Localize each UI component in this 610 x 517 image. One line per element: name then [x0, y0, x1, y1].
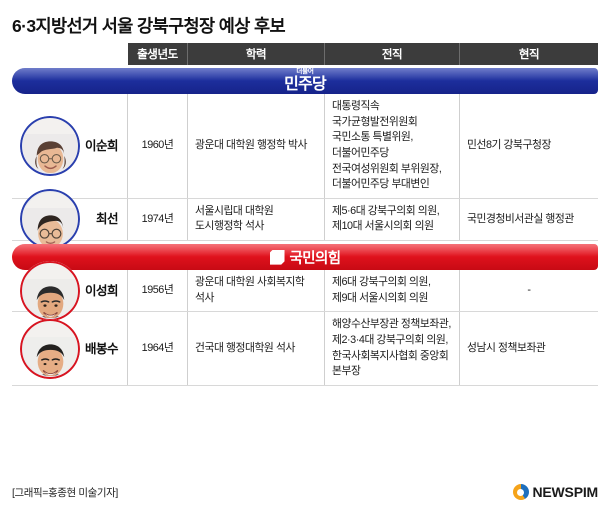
democratic-logo-subtext: 더불어 [296, 69, 313, 76]
people-power-logo-text: 국민의힘 [290, 247, 341, 268]
cell-birth-year: 1964년 [128, 312, 188, 385]
avatar-photo [23, 192, 78, 247]
cell-education: 광운대 대학원 사회복지학 석사 [188, 270, 325, 311]
newspim-mark-icon [513, 484, 529, 500]
newspim-logo: NEWSPIM [513, 484, 599, 500]
avatar [20, 116, 80, 176]
table-row: 이순희 1960년 광운대 대학원 행정학 박사 대통령직속 국가균형발전위원회… [12, 94, 598, 199]
avatar [20, 189, 80, 249]
cell-birth-year: 1974년 [128, 199, 188, 240]
column-header-current: 현직 [460, 43, 598, 65]
candidate-identity-cell: 이순희 [12, 94, 128, 198]
cell-current: 국민경청비서관실 행정관 [460, 199, 598, 240]
avatar [20, 319, 80, 379]
cell-previous: 제6대 강북구의회 의원, 제9대 서울시의회 의원 [325, 270, 460, 311]
party-banner-democratic: 더불어 민주당 [12, 68, 598, 94]
table-row: 최선 1974년 서울시립대 대학원 도시행정학 석사 제5·6대 강북구의회 … [12, 199, 598, 241]
graphic-credit: [그래픽=홍종현 미술기자] [12, 485, 118, 500]
portrait-icon [23, 134, 78, 173]
candidate-table: 출생년도 학력 전직 현직 더불어 민주당 [12, 43, 598, 386]
cell-education: 광운대 대학원 행정학 박사 [188, 94, 325, 198]
cell-previous: 해양수산부장관 정책보좌관, 제2·3·4대 강북구의회 의원, 한국사회복지사… [325, 312, 460, 385]
footer: [그래픽=홍종현 미술기자] NEWSPIM [12, 484, 598, 500]
cell-birth-year: 1956년 [128, 270, 188, 311]
candidate-name: 배봉수 [85, 340, 118, 358]
column-header-education: 학력 [188, 43, 325, 65]
table-row: 배봉수 1964년 건국대 행정대학원 석사 해양수산부장관 정책보좌관, 제2… [12, 312, 598, 386]
cell-education: 건국대 행정대학원 석사 [188, 312, 325, 385]
cell-current: - [460, 270, 598, 311]
table-row: 이성희 1956년 광운대 대학원 사회복지학 석사 제6대 강북구의회 의원,… [12, 270, 598, 312]
cell-previous: 제5·6대 강북구의회 의원, 제10대 서울시의회 의원 [325, 199, 460, 240]
table-header-row: 출생년도 학력 전직 현직 [128, 43, 598, 65]
candidate-identity-cell: 이성희 [12, 270, 128, 311]
candidate-name: 이순희 [85, 137, 118, 155]
candidate-identity-cell: 최선 [12, 199, 128, 240]
avatar-photo [23, 321, 78, 376]
cell-education: 서울시립대 대학원 도시행정학 석사 [188, 199, 325, 240]
candidate-name: 최선 [96, 210, 118, 228]
portrait-icon [23, 208, 78, 247]
cell-birth-year: 1960년 [128, 94, 188, 198]
people-power-logo-icon [270, 250, 285, 265]
cell-current: 민선8기 강북구청장 [460, 94, 598, 198]
avatar-photo [23, 118, 78, 173]
democratic-logo-text: 민주당 [284, 77, 326, 93]
infographic-page: 6·3지방선거 서울 강북구청장 예상 후보 출생년도 학력 전직 현직 더불어… [0, 0, 610, 517]
portrait-icon [23, 337, 78, 376]
column-header-previous: 전직 [325, 43, 460, 65]
party-banner-people-power: 국민의힘 [12, 244, 598, 270]
candidate-identity-cell: 배봉수 [12, 312, 128, 385]
democratic-party-logo: 더불어 민주당 [284, 69, 326, 93]
cell-previous: 대통령직속 국가균형발전위원회 국민소통 특별위원, 더불어민주당 전국여성위원… [325, 94, 460, 198]
candidate-name: 이성희 [85, 282, 118, 300]
avatar-photo [23, 263, 78, 318]
newspim-wordmark: NEWSPIM [533, 484, 599, 500]
cell-current: 성남시 정책보좌관 [460, 312, 598, 385]
page-title: 6·3지방선거 서울 강북구청장 예상 후보 [12, 13, 285, 38]
column-header-birth-year: 출생년도 [128, 43, 188, 65]
